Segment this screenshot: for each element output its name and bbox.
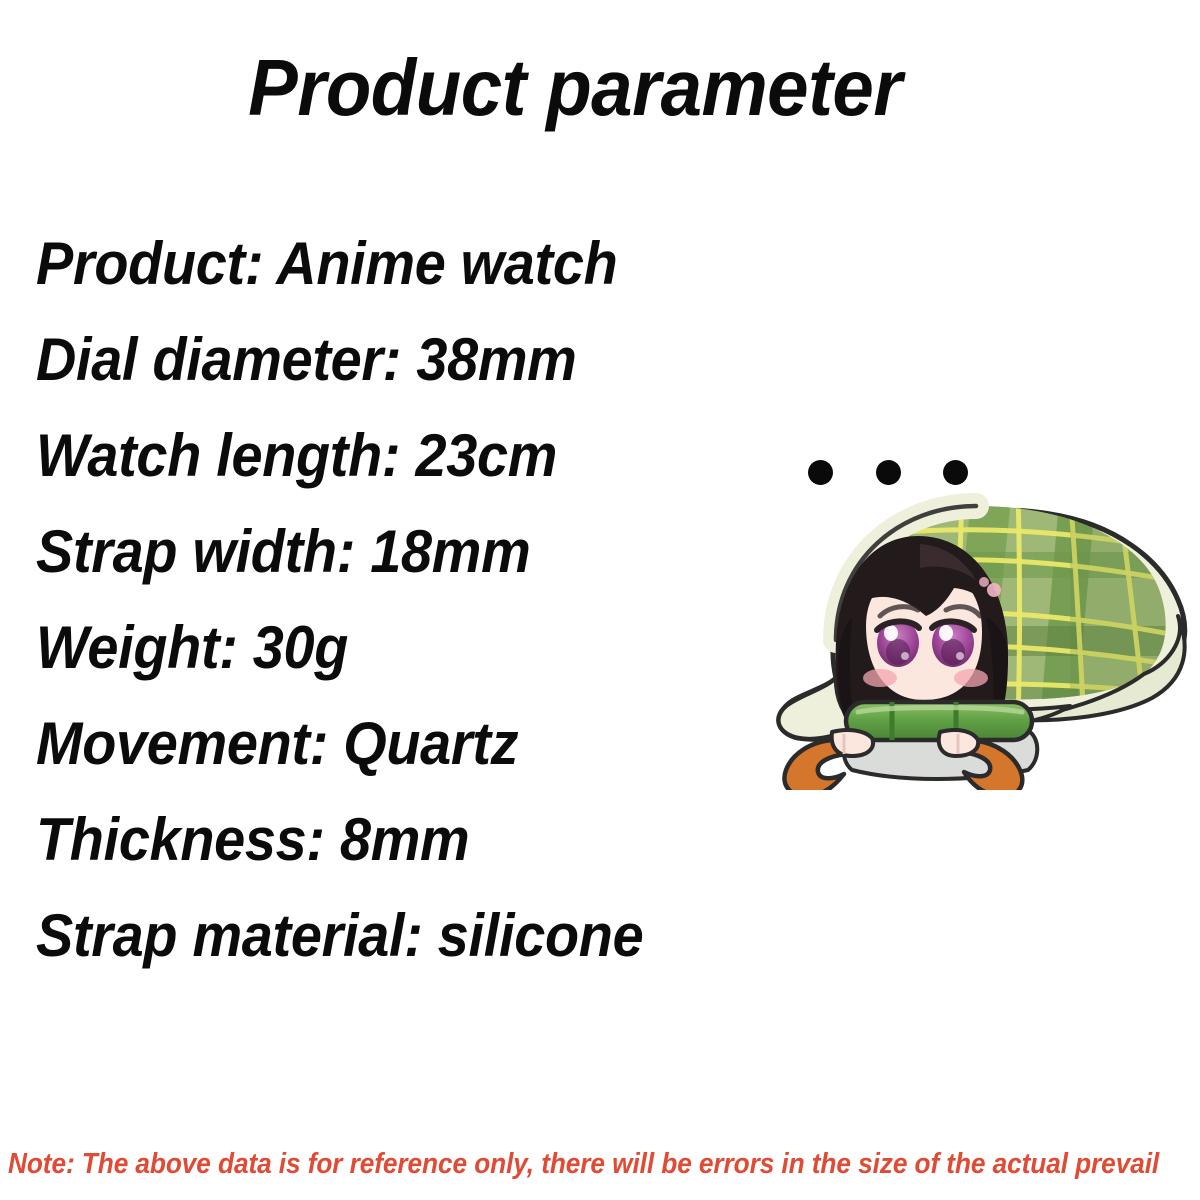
spec-row-product: Product: Anime watch bbox=[36, 216, 706, 312]
spec-row-dial-diameter: Dial diameter: 38mm bbox=[36, 312, 706, 408]
product-spec-list: Product: Anime watch Dial diameter: 38mm… bbox=[36, 216, 756, 984]
eye-left bbox=[877, 619, 919, 667]
chibi-girl-under-plaid-blanket-illustration bbox=[740, 440, 1192, 790]
spec-row-weight: Weight: 30g bbox=[36, 600, 706, 696]
product-parameter-page: Product parameter Product: Anime watch D… bbox=[0, 0, 1200, 1200]
spec-row-thickness: Thickness: 8mm bbox=[36, 792, 706, 888]
spec-row-watch-length: Watch length: 23cm bbox=[36, 408, 706, 504]
eye-right bbox=[932, 619, 974, 667]
spec-row-strap-width: Strap width: 18mm bbox=[36, 504, 706, 600]
disclaimer-note: Note: The above data is for reference on… bbox=[8, 1148, 1081, 1181]
spec-row-movement: Movement: Quartz bbox=[36, 696, 706, 792]
spec-row-strap-material: Strap material: silicone bbox=[36, 888, 706, 984]
page-title: Product parameter bbox=[40, 48, 1110, 128]
